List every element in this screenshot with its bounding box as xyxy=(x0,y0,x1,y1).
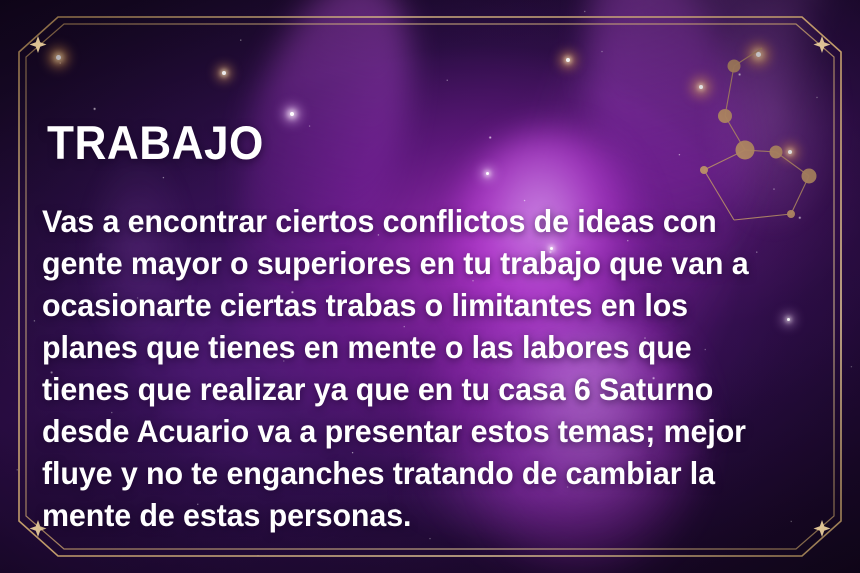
body-line: mente de estas personas. xyxy=(42,494,804,536)
body-line: planes que tienes en mente o las labores… xyxy=(42,326,804,368)
body-line: fluye y no te enganches tratando de camb… xyxy=(42,452,804,494)
page-title: TRABAJO xyxy=(47,119,264,166)
body-line: desde Acuario va a presentar estos temas… xyxy=(42,410,804,452)
body-line: ocasionarte ciertas trabas o limitantes … xyxy=(42,284,804,326)
card-content: TRABAJO Vas a encontrar ciertos conflict… xyxy=(0,0,860,573)
body-line: Vas a encontrar ciertos conflictos de id… xyxy=(42,200,804,242)
body-line: gente mayor o superiores en tu trabajo q… xyxy=(42,242,804,284)
horoscope-card: TRABAJO Vas a encontrar ciertos conflict… xyxy=(0,0,860,573)
horoscope-body-text: Vas a encontrar ciertos conflictos de id… xyxy=(42,200,832,536)
body-line: tienes que realizar ya que en tu casa 6 … xyxy=(42,368,804,410)
